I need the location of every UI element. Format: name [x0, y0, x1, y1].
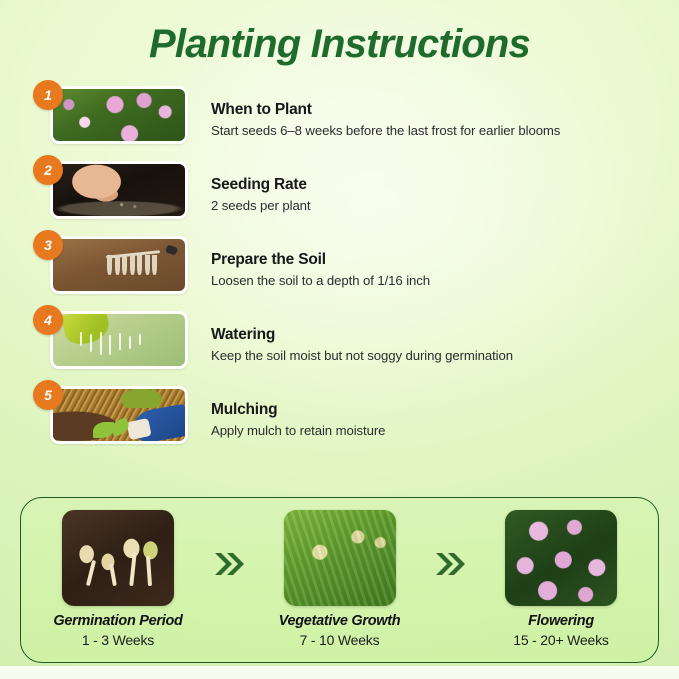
step-description: Keep the soil moist but not soggy during… [211, 347, 513, 364]
step-thumbnail-seeding-rate [50, 161, 188, 219]
step-title: Seeding Rate [211, 175, 310, 194]
steps-list: 1 When to Plant Start seeds 6–8 weeks be… [0, 86, 679, 461]
step-description: Start seeds 6–8 weeks before the last fr… [211, 122, 560, 139]
step-title: Prepare the Soil [211, 250, 430, 269]
green-foliage-buds-photo [284, 510, 396, 606]
step-badge-5: 5 [33, 380, 63, 410]
step-title: When to Plant [211, 100, 560, 119]
list-item: 4 Watering Keep the soil moist but not s… [0, 311, 679, 386]
step-badge-1: 1 [33, 80, 63, 110]
timeline-stage-duration: 1 - 3 Weeks [43, 632, 193, 648]
double-chevron-right-icon [207, 516, 251, 612]
step-text-block: Seeding Rate 2 seeds per plant [211, 175, 310, 215]
sprouting-seeds-photo [62, 510, 174, 606]
timeline-stage-name: Germination Period [43, 613, 193, 629]
step-thumbnail-mulching [50, 386, 188, 444]
step-thumbnail-prepare-the-soil [50, 236, 188, 294]
page-title: Planting Instructions [0, 22, 679, 67]
mulching-gloved-hand-photo [53, 389, 185, 441]
timeline-stage-vegetative: Vegetative Growth 7 - 10 Weeks [265, 510, 415, 648]
growth-timeline-panel: Germination Period 1 - 3 Weeks Vegetativ… [20, 497, 659, 663]
pink-daisy-flowers-photo [53, 89, 185, 141]
step-description: Apply mulch to retain moisture [211, 422, 385, 439]
hand-sowing-seeds-photo [53, 164, 185, 216]
step-text-block: Mulching Apply mulch to retain moisture [211, 400, 385, 440]
double-chevron-right-icon [428, 516, 472, 612]
timeline-stage-flowering: Flowering 15 - 20+ Weeks [486, 510, 636, 648]
step-text-block: When to Plant Start seeds 6–8 weeks befo… [211, 100, 560, 140]
step-thumbnail-watering [50, 311, 188, 369]
watering-can-photo [53, 314, 185, 366]
step-thumbnail-when-to-plant [50, 86, 188, 144]
step-title: Watering [211, 325, 513, 344]
planting-instructions-poster: Planting Instructions 1 When to Plant St… [0, 0, 679, 679]
step-badge-2: 2 [33, 155, 63, 185]
timeline-stage-name: Vegetative Growth [265, 613, 415, 629]
step-title: Mulching [211, 400, 385, 419]
timeline-stage-name: Flowering [486, 613, 636, 629]
step-badge-3: 3 [33, 230, 63, 260]
step-description: 2 seeds per plant [211, 197, 310, 214]
step-description: Loosen the soil to a depth of 1/16 inch [211, 272, 430, 289]
list-item: 5 Mulching Apply mulch to retain moistur… [0, 386, 679, 461]
step-text-block: Watering Keep the soil moist but not sog… [211, 325, 513, 365]
list-item: 1 When to Plant Start seeds 6–8 weeks be… [0, 86, 679, 161]
step-badge-4: 4 [33, 305, 63, 335]
timeline-stage-duration: 7 - 10 Weeks [265, 632, 415, 648]
list-item: 3 Prepare the Soil Loosen the soil to a … [0, 236, 679, 311]
blooming-daisies-photo [505, 510, 617, 606]
list-item: 2 Seeding Rate 2 seeds per plant [0, 161, 679, 236]
timeline-stage-duration: 15 - 20+ Weeks [486, 632, 636, 648]
timeline-stage-germination: Germination Period 1 - 3 Weeks [43, 510, 193, 648]
rake-on-soil-photo [53, 239, 185, 291]
rake-icon [106, 248, 175, 280]
step-text-block: Prepare the Soil Loosen the soil to a de… [211, 250, 430, 290]
bottom-edge-strip [0, 666, 679, 679]
